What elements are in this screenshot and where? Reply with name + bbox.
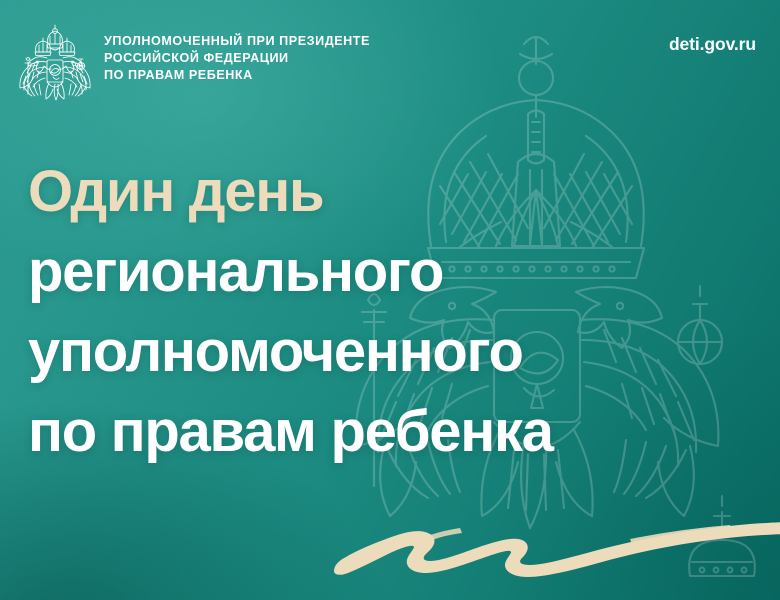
organization-name: УПОЛНОМОЧЕННЫЙ ПРИ ПРЕЗИДЕНТЕ РОССИЙСКОЙ… <box>104 33 370 83</box>
org-name-line-3: ПО ПРАВАМ РЕБЕНКА <box>104 67 370 84</box>
headline-block: Один день регионального уполномоченного … <box>28 152 728 472</box>
poster-canvas: УПОЛНОМОЧЕННЫЙ ПРИ ПРЕЗИДЕНТЕ РОССИЙСКОЙ… <box>0 0 780 600</box>
russian-double-headed-eagle-emblem-icon <box>18 22 92 102</box>
org-name-line-2: РОССИЙСКОЙ ФЕДЕРАЦИИ <box>104 50 370 67</box>
headline-line-2: регионального <box>28 232 728 312</box>
site-url-link[interactable]: deti.gov.ru <box>669 34 756 55</box>
headline-line-3: уполномоченного <box>28 312 728 392</box>
headline-line-4: по правам ребенка <box>28 392 728 472</box>
poster-header: УПОЛНОМОЧЕННЫЙ ПРИ ПРЕЗИДЕНТЕ РОССИЙСКОЙ… <box>0 0 780 115</box>
org-name-line-1: УПОЛНОМОЧЕННЫЙ ПРИ ПРЕЗИДЕНТЕ <box>104 33 370 50</box>
headline-line-1: Один день <box>28 152 728 232</box>
